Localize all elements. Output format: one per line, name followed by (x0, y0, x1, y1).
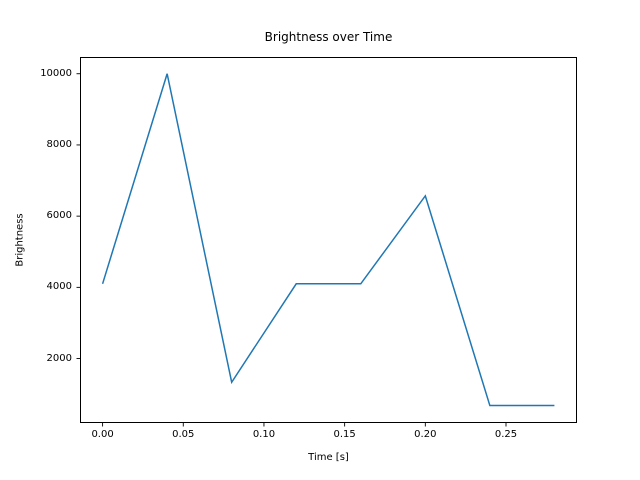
y-tick-label: 10000 (12, 68, 72, 79)
x-tick-label: 0.10 (234, 429, 294, 440)
x-tick-label: 0.00 (73, 429, 133, 440)
data-series-group (103, 74, 555, 406)
x-tick-label: 0.05 (153, 429, 213, 440)
plot-area (0, 0, 640, 480)
figure-canvas: Brightness over Time Brightness Time [s]… (0, 0, 640, 480)
y-tick-label: 8000 (12, 139, 72, 150)
y-tick-label: 4000 (12, 281, 72, 292)
x-tick-label: 0.20 (395, 429, 455, 440)
brightness-line (103, 74, 555, 406)
y-tick-label: 6000 (12, 210, 72, 221)
x-tick-label: 0.15 (315, 429, 375, 440)
y-tick-label: 2000 (12, 353, 72, 364)
x-tick-label: 0.25 (476, 429, 536, 440)
